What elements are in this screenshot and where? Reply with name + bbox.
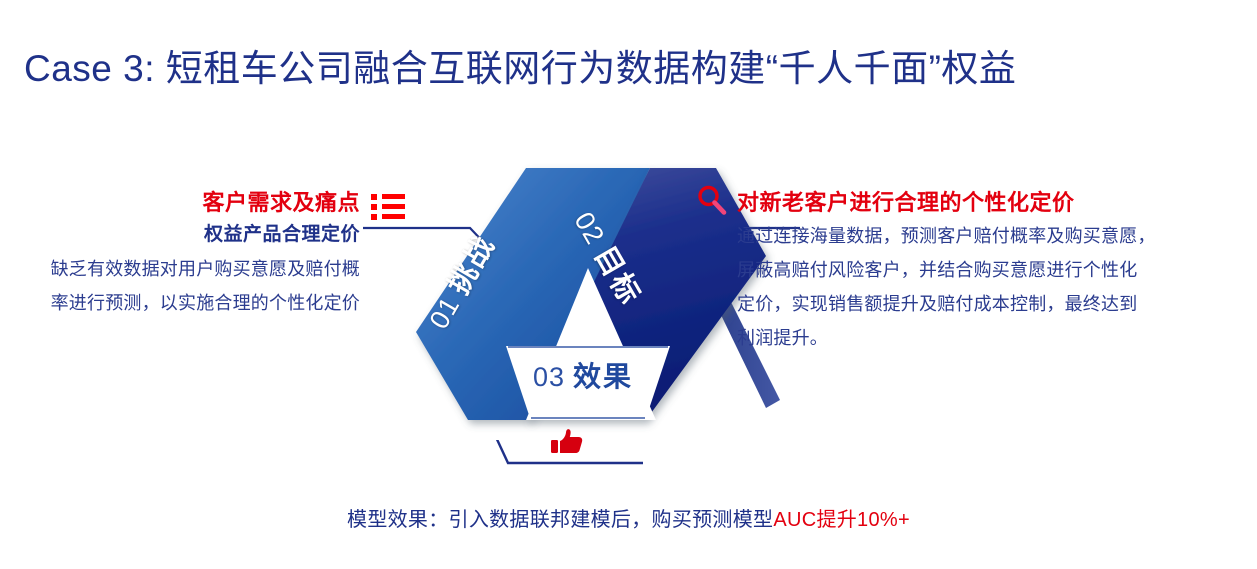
target-body-line-3: 定价，实现销售额提升及赔付成本控制，最终达到 [737, 288, 1207, 320]
challenge-subheading: 权益产品合理定价 [0, 218, 360, 251]
challenge-body-line-2: 率进行预测，以实施合理的个性化定价 [0, 287, 360, 319]
target-heading: 对新老客户进行合理的个性化定价 [737, 188, 1207, 218]
target-body-line-2: 屏蔽高赔付风险客户，并结合购买意愿进行个性化 [737, 254, 1207, 286]
search-icon [694, 183, 730, 219]
step-label-result: 03效果 [508, 355, 658, 395]
target-text-block: 对新老客户进行合理的个性化定价 通过连接海量数据，预测客户赔付概率及购买意愿， … [737, 188, 1207, 354]
page-title: Case 3: 短租车公司融合互联网行为数据构建“千人千面”权益 [24, 38, 1016, 92]
target-body-line-4: 利润提升。 [737, 322, 1207, 354]
list-icon [371, 193, 405, 219]
challenge-heading: 客户需求及痛点 [0, 188, 360, 218]
challenge-body-line-1: 缺乏有效数据对用户购买意愿及赔付概 [0, 253, 360, 285]
challenge-text-block: 客户需求及痛点 权益产品合理定价 缺乏有效数据对用户购买意愿及赔付概 率进行预测… [0, 188, 360, 319]
step-word-03: 效果 [573, 361, 633, 392]
caption-text-red: AUC提升10%+ [773, 509, 910, 531]
thumbs-up-icon [551, 428, 585, 458]
step-number-03: 03 [533, 362, 565, 392]
caption-text-blue: 模型效果：引入数据联邦建模后，购买预测模型 [347, 509, 773, 531]
target-body-line-1: 通过连接海量数据，预测客户赔付概率及购买意愿， [737, 220, 1207, 252]
model-result-caption: 模型效果：引入数据联邦建模后，购买预测模型AUC提升10%+ [0, 503, 1257, 532]
